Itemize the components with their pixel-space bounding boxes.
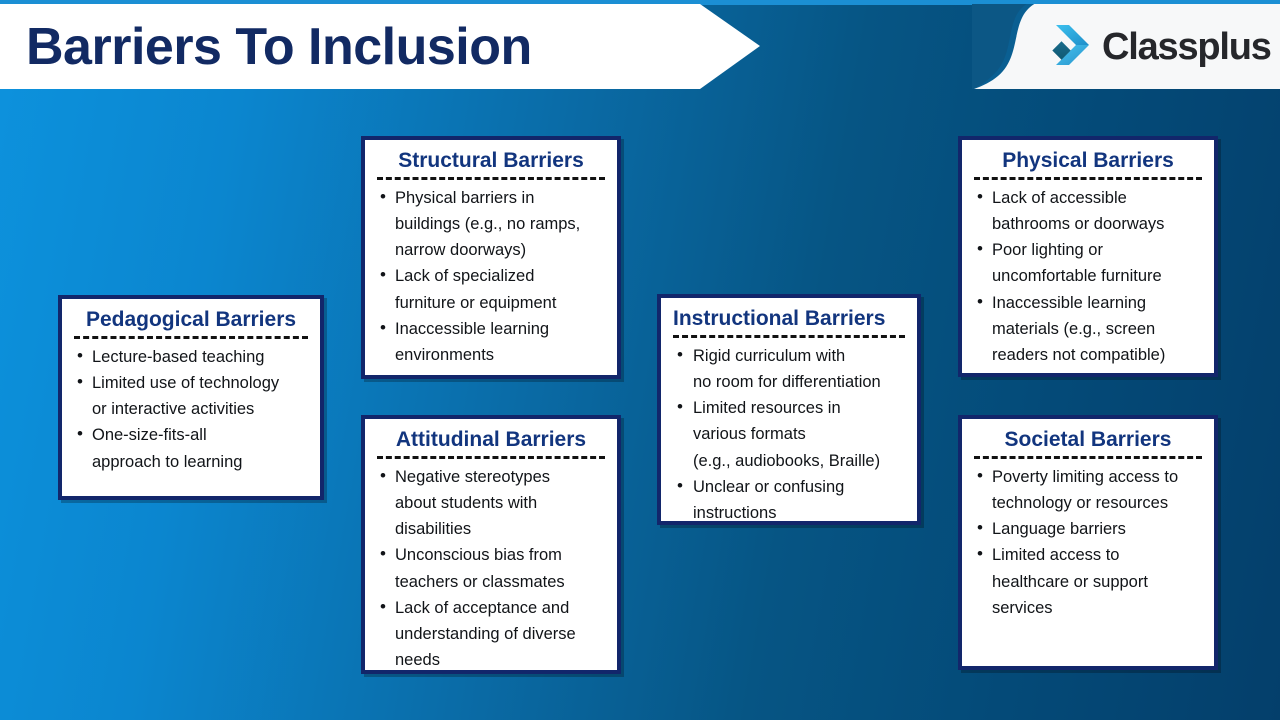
list-item: Lack of specialized furniture or equipme… xyxy=(375,263,607,315)
card-pedagogical-barriers[interactable]: Pedagogical Barriers Lecture-based teach… xyxy=(58,295,324,500)
list-item: Poverty limiting access to technology or… xyxy=(972,464,1204,516)
bullet-line: Limited resources in xyxy=(693,395,907,421)
bullet-line: One-size-fits-all xyxy=(92,422,310,448)
bullet-line: narrow doorways) xyxy=(395,237,607,263)
list-item: Limited resources in various formats (e.… xyxy=(671,395,907,473)
bullet-line: furniture or equipment xyxy=(395,290,607,316)
bullet-line: Lack of acceptance and xyxy=(395,595,607,621)
bullet-line: services xyxy=(992,595,1204,621)
brand-logo-panel: Classplus xyxy=(972,4,1280,89)
bullet-line: Inaccessible learning xyxy=(395,316,607,342)
bullet-line: Lack of specialized xyxy=(395,263,607,289)
card-structural-barriers[interactable]: Structural Barriers Physical barriers in… xyxy=(361,136,621,379)
bullet-line: understanding of diverse xyxy=(395,621,607,647)
list-item: Language barriers xyxy=(972,516,1204,542)
bullet-line: readers not compatible) xyxy=(992,342,1204,368)
list-item: One-size-fits-all approach to learning xyxy=(72,422,310,474)
card-divider xyxy=(673,335,905,338)
list-item: Lecture-based teaching xyxy=(72,344,310,370)
card-societal-barriers[interactable]: Societal Barriers Poverty limiting acces… xyxy=(958,415,1218,670)
brand-logo: Classplus xyxy=(1044,4,1271,89)
page-title: Barriers To Inclusion xyxy=(26,21,532,73)
bullet-line: technology or resources xyxy=(992,490,1204,516)
list-item: Poor lighting or uncomfortable furniture xyxy=(972,237,1204,289)
card-title: Instructional Barriers xyxy=(671,304,907,334)
classplus-chevron-icon xyxy=(1044,24,1090,70)
bullet-line: or interactive activities xyxy=(92,396,310,422)
bullet-line: disabilities xyxy=(395,516,607,542)
list-item: Rigid curriculum with no room for differ… xyxy=(671,343,907,395)
card-title: Structural Barriers xyxy=(375,146,607,176)
card-divider xyxy=(974,456,1202,459)
card-title: Pedagogical Barriers xyxy=(72,305,310,335)
card-divider xyxy=(377,456,605,459)
bullet-line: about students with xyxy=(395,490,607,516)
card-attitudinal-barriers[interactable]: Attitudinal Barriers Negative stereotype… xyxy=(361,415,621,674)
card-bullet-list: Rigid curriculum with no room for differ… xyxy=(671,343,907,525)
bullet-line: Language barriers xyxy=(992,516,1204,542)
bullet-line: approach to learning xyxy=(92,449,310,475)
card-divider xyxy=(974,177,1202,180)
card-bullet-list: Lecture-based teaching Limited use of te… xyxy=(72,344,310,474)
bullet-line: instructions xyxy=(693,500,907,526)
card-divider xyxy=(74,336,308,339)
list-item: Unclear or confusing instructions xyxy=(671,474,907,526)
bullet-line: Poor lighting or xyxy=(992,237,1204,263)
list-item: Inaccessible learning materials (e.g., s… xyxy=(972,290,1204,368)
bullet-line: Negative stereotypes xyxy=(395,464,607,490)
bullet-line: Lack of accessible xyxy=(992,185,1204,211)
list-item: Negative stereotypes about students with… xyxy=(375,464,607,542)
title-banner: Barriers To Inclusion xyxy=(0,4,760,89)
bullet-line: teachers or classmates xyxy=(395,569,607,595)
brand-wordmark: Classplus xyxy=(1102,28,1271,66)
list-item: Inaccessible learning environments xyxy=(375,316,607,368)
bullet-line: materials (e.g., screen xyxy=(992,316,1204,342)
bullet-line: Unclear or confusing xyxy=(693,474,907,500)
card-bullet-list: Lack of accessible bathrooms or doorways… xyxy=(972,185,1204,367)
bullet-line: uncomfortable furniture xyxy=(992,263,1204,289)
bullet-line: various formats xyxy=(693,421,907,447)
bullet-line: no room for differentiation xyxy=(693,369,907,395)
bullet-line: Limited use of technology xyxy=(92,370,310,396)
list-item: Unconscious bias from teachers or classm… xyxy=(375,542,607,594)
bullet-line: Lecture-based teaching xyxy=(92,344,310,370)
bullet-line: (e.g., audiobooks, Braille) xyxy=(693,448,907,474)
card-divider xyxy=(377,177,605,180)
card-bullet-list: Poverty limiting access to technology or… xyxy=(972,464,1204,620)
bullet-line: environments xyxy=(395,342,607,368)
list-item: Limited use of technology or interactive… xyxy=(72,370,310,422)
card-instructional-barriers[interactable]: Instructional Barriers Rigid curriculum … xyxy=(657,294,921,525)
card-bullet-list: Physical barriers in buildings (e.g., no… xyxy=(375,185,607,367)
slide-canvas: Barriers To Inclusion xyxy=(0,0,1280,720)
list-item: Physical barriers in buildings (e.g., no… xyxy=(375,185,607,263)
bullet-line: Unconscious bias from xyxy=(395,542,607,568)
bullet-line: Poverty limiting access to xyxy=(992,464,1204,490)
bullet-line: Inaccessible learning xyxy=(992,290,1204,316)
bullet-line: Physical barriers in xyxy=(395,185,607,211)
list-item: Lack of acceptance and understanding of … xyxy=(375,595,607,673)
card-title: Physical Barriers xyxy=(972,146,1204,176)
bullet-line: Rigid curriculum with xyxy=(693,343,907,369)
list-item: Limited access to healthcare or support … xyxy=(972,542,1204,620)
card-title: Attitudinal Barriers xyxy=(375,425,607,455)
card-physical-barriers[interactable]: Physical Barriers Lack of accessible bat… xyxy=(958,136,1218,377)
bullet-line: bathrooms or doorways xyxy=(992,211,1204,237)
card-title: Societal Barriers xyxy=(972,425,1204,455)
bullet-line: needs xyxy=(395,647,607,673)
bullet-line: buildings (e.g., no ramps, xyxy=(395,211,607,237)
list-item: Lack of accessible bathrooms or doorways xyxy=(972,185,1204,237)
bullet-line: Limited access to xyxy=(992,542,1204,568)
bullet-line: healthcare or support xyxy=(992,569,1204,595)
card-bullet-list: Negative stereotypes about students with… xyxy=(375,464,607,673)
